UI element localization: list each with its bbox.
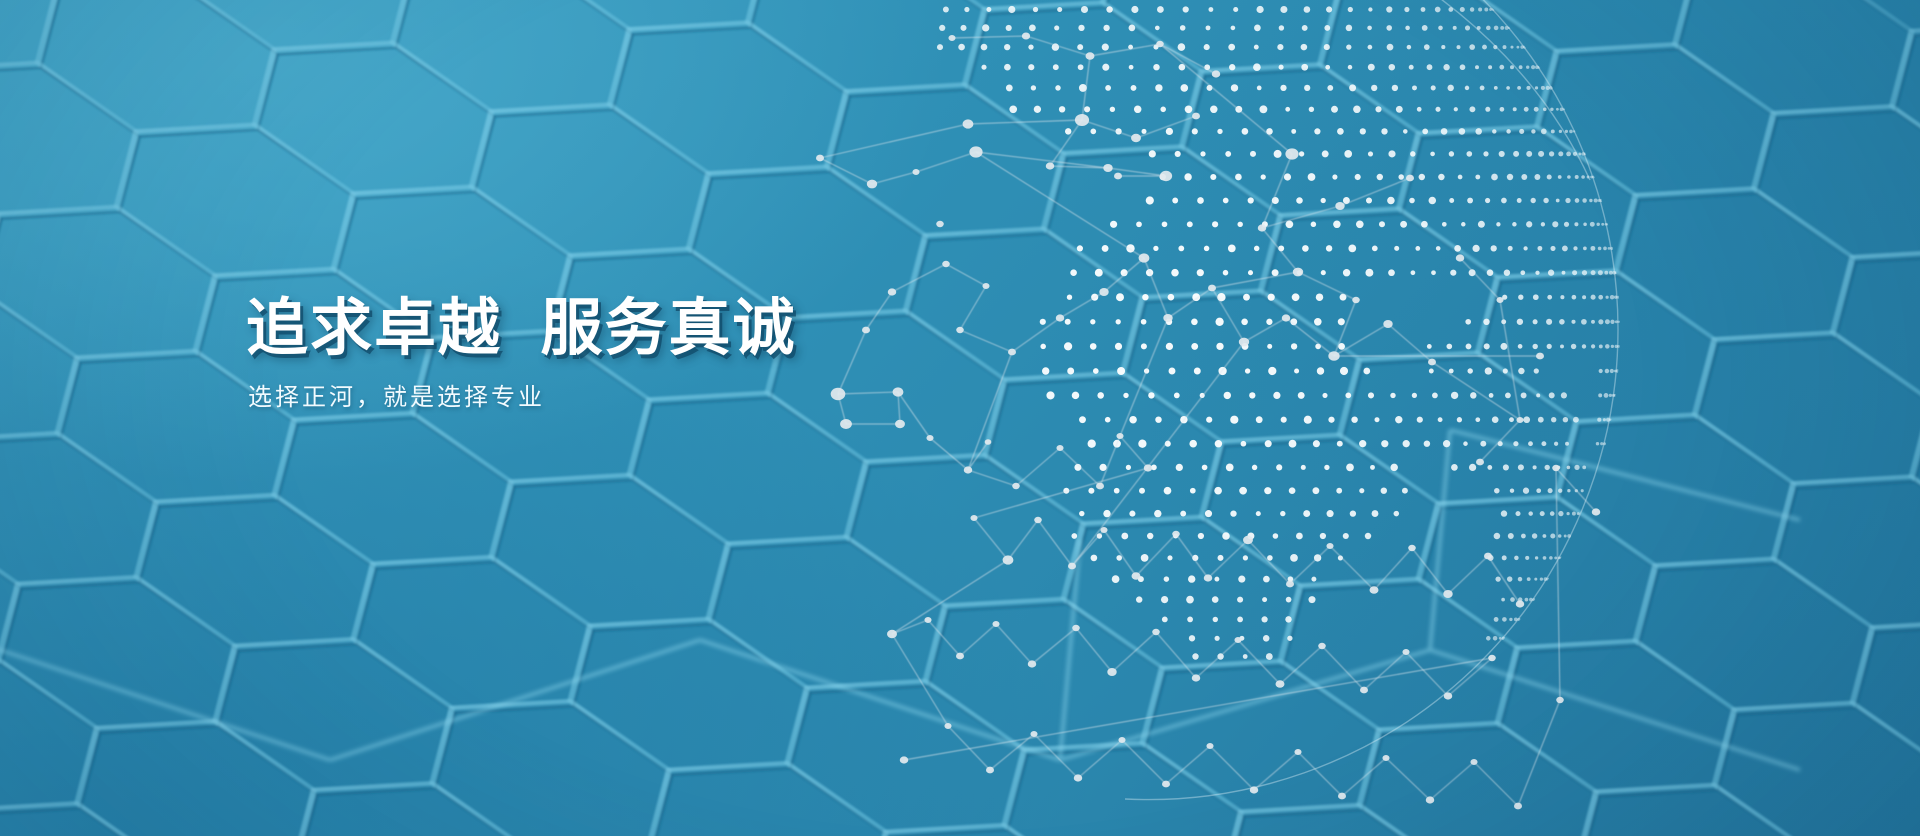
vignette-overlay [0,0,1920,836]
network-graph [816,33,1600,810]
background-gradient [0,0,1920,836]
globe-meridian-arcs [1000,0,1618,800]
page-title: 追求卓越 服务真诚 [246,296,1006,363]
globe-dot-matrix [937,0,1620,660]
hero-banner: 追求卓越 服务真诚 选择正河，就是选择专业 [0,0,1920,836]
hexagon-pattern-background [0,0,1920,836]
hero-copy-block: 追求卓越 服务真诚 选择正河，就是选择专业 [246,296,1006,413]
page-subtitle: 选择正河，就是选择专业 [248,382,1006,413]
dotted-globe-network-graphic [0,0,1920,836]
